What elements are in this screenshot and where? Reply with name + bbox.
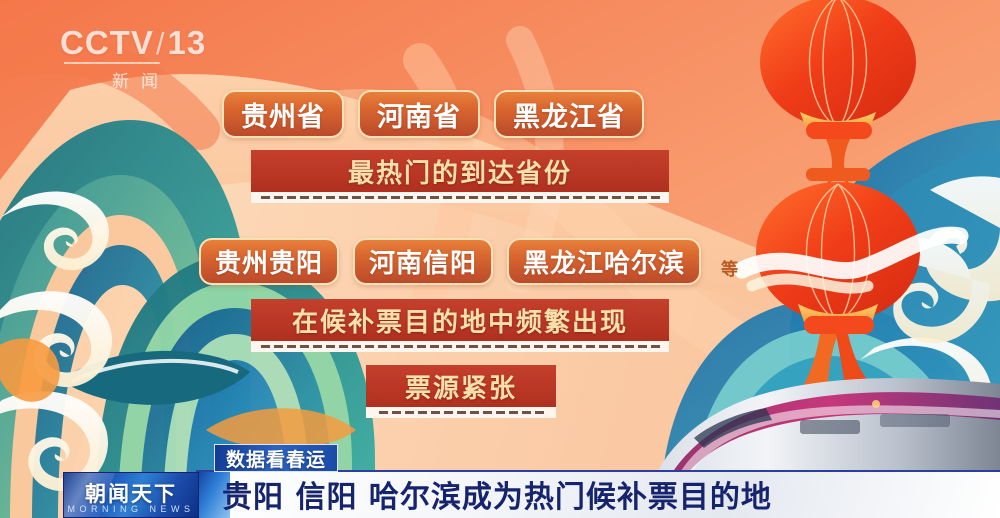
province-pill-row: 贵州省 河南省 黑龙江省	[222, 90, 644, 138]
caption-block-1: 最热门的到达省份	[251, 150, 669, 203]
channel-logo-text: CCTV/13	[60, 26, 210, 61]
city-pill: 贵州贵阳	[199, 238, 339, 285]
caption-block-2: 在候补票目的地中频繁出现	[251, 299, 669, 352]
caption-text: 在候补票目的地中频繁出现	[251, 299, 669, 341]
headline-text: 贵阳 信阳 哈尔滨成为热门候补票目的地	[222, 472, 772, 516]
program-logo: 朝闻天下 MORNING NEWS	[63, 472, 199, 518]
province-pill: 贵州省	[222, 90, 344, 138]
dashed-underline	[251, 341, 669, 352]
channel-subtitle: 新闻	[60, 67, 210, 92]
province-pill: 黑龙江省	[494, 90, 644, 138]
lower-third: 贵阳 信阳 哈尔滨成为热门候补票目的地 朝闻天下 MORNING NEWS 数据…	[0, 472, 1000, 518]
program-name-en: MORNING NEWS	[64, 504, 198, 514]
broadcast-screen: CCTV/13 新闻 贵州省 河南省 黑龙江省 最热门的到达省份 贵州贵阳 河南…	[0, 0, 1000, 518]
city-pill-row: 贵州贵阳 河南信阳 黑龙江哈尔滨 等	[199, 238, 738, 285]
province-pill: 河南省	[358, 90, 480, 138]
caption-text: 票源紧张	[366, 365, 556, 407]
city-pill: 河南信阳	[353, 238, 493, 285]
caption-text: 最热门的到达省份	[251, 150, 669, 192]
channel-logo: CCTV/13 新闻	[60, 26, 210, 96]
channel-separator: /	[154, 26, 168, 61]
city-pill: 黑龙江哈尔滨	[507, 238, 701, 285]
etc-suffix: 等	[721, 255, 738, 280]
topic-tag: 数据看春运	[214, 444, 338, 472]
dashed-underline	[366, 407, 556, 418]
channel-name: CCTV	[60, 24, 154, 61]
caption-block-3: 票源紧张	[366, 365, 556, 418]
dashed-underline	[251, 192, 669, 203]
channel-underline	[64, 62, 160, 64]
channel-number: 13	[167, 24, 206, 61]
